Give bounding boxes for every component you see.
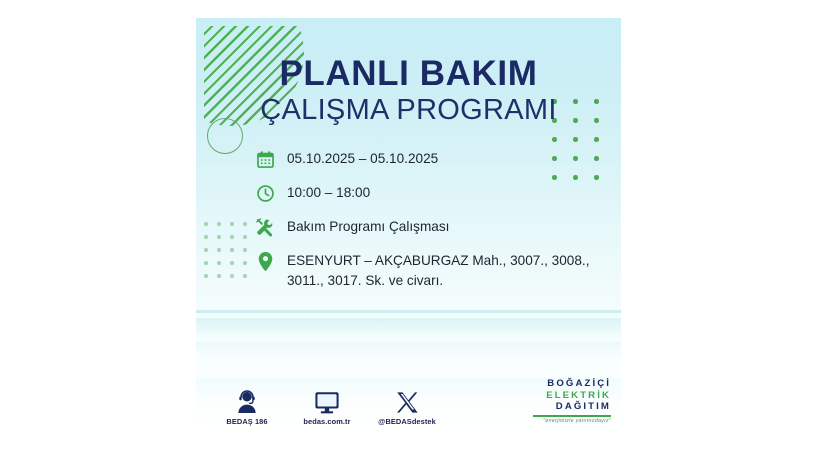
tools-icon: [254, 216, 276, 238]
page-title: PLANLI BAKIM: [196, 56, 621, 93]
screenshot-canvas: PLANLI BAKIM ÇALIŞMA PROGRAMI: [0, 0, 820, 461]
contact-x-account[interactable]: @BEDASdestek: [378, 388, 436, 426]
dot-grid-decoration-left: [204, 222, 256, 287]
x-twitter-icon: [378, 388, 436, 414]
detail-row-time: 10:00 – 18:00: [254, 182, 594, 204]
haze-band: [196, 310, 621, 313]
support-agent-icon: [218, 388, 276, 414]
company-logo-line1: BOĞAZİÇİ: [533, 378, 611, 390]
poster-footer: BEDAŞ 186 bedas.com.tr: [196, 372, 621, 430]
company-tagline: "enerjimizle yanınızdayız": [533, 418, 611, 424]
detail-row-location: ESENYURT – AKÇABURGAZ Mah., 3007., 3008.…: [254, 250, 594, 292]
detail-row-worktype: Bakım Programı Çalışması: [254, 216, 594, 238]
contact-channels: BEDAŞ 186 bedas.com.tr: [218, 388, 436, 426]
location-pin-icon: [254, 250, 276, 272]
haze-band: [196, 318, 621, 338]
contact-website[interactable]: bedas.com.tr: [298, 388, 356, 426]
calendar-icon: [254, 148, 276, 170]
maintenance-details-list: 05.10.2025 – 05.10.2025 10:00 – 18:00: [254, 148, 594, 292]
contact-x-label: @BEDASdestek: [378, 417, 436, 426]
contact-call-center[interactable]: BEDAŞ 186: [218, 388, 276, 426]
poster-heading: PLANLI BAKIM ÇALIŞMA PROGRAMI: [196, 56, 621, 127]
page-subtitle: ÇALIŞMA PROGRAMI: [196, 95, 621, 127]
company-logo-rule: [533, 415, 611, 416]
detail-worktype-text: Bakım Programı Çalışması: [287, 216, 449, 237]
detail-location-text: ESENYURT – AKÇABURGAZ Mah., 3007., 3008.…: [287, 250, 594, 292]
planned-maintenance-poster: PLANLI BAKIM ÇALIŞMA PROGRAMI: [196, 18, 621, 438]
company-logo-line2: ELEKTRİK: [533, 390, 611, 402]
company-logo: BOĞAZİÇİ ELEKTRİK DAĞITIM "enerjimizle y…: [533, 378, 611, 424]
contact-website-label: bedas.com.tr: [298, 417, 356, 426]
detail-row-date: 05.10.2025 – 05.10.2025: [254, 148, 594, 170]
haze-band: [196, 342, 621, 356]
company-logo-line3: DAĞITIM: [533, 401, 611, 413]
clock-icon: [254, 182, 276, 204]
monitor-icon: [298, 388, 356, 414]
detail-date-text: 05.10.2025 – 05.10.2025: [287, 148, 438, 169]
detail-time-text: 10:00 – 18:00: [287, 182, 370, 203]
contact-call-center-label: BEDAŞ 186: [218, 417, 276, 426]
